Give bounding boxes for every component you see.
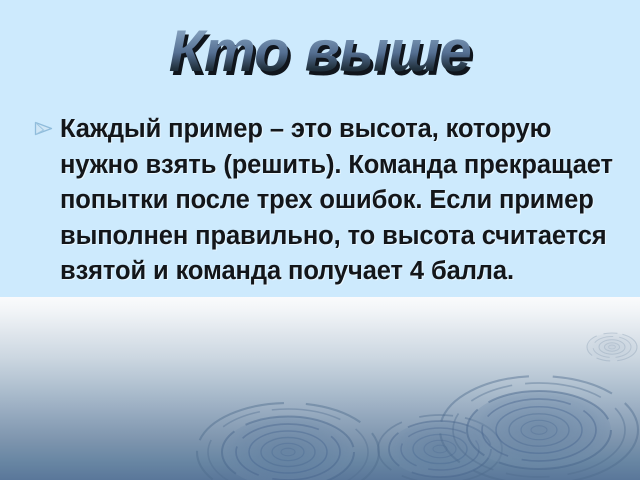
- list-item: Каждый пример – это высота, которую нужн…: [34, 112, 614, 290]
- water-ripple-large-left: [197, 403, 379, 480]
- slide-title-container: Кто выше Кто выше: [0, 22, 640, 83]
- list-item-text: Каждый пример – это высота, которую нужн…: [60, 112, 614, 290]
- water-ripple-small: [587, 333, 637, 361]
- slide-title: Кто выше Кто выше: [169, 22, 471, 83]
- chevron-right-bullet-icon: [34, 112, 60, 141]
- slide-title-text: Кто выше: [169, 19, 471, 84]
- slide-body: Каждый пример – это высота, которую нужн…: [34, 112, 614, 290]
- slide-canvas: Кто выше Кто выше Каждый пример – это вы…: [0, 0, 640, 480]
- water-ripple-decoration-group: [0, 297, 640, 480]
